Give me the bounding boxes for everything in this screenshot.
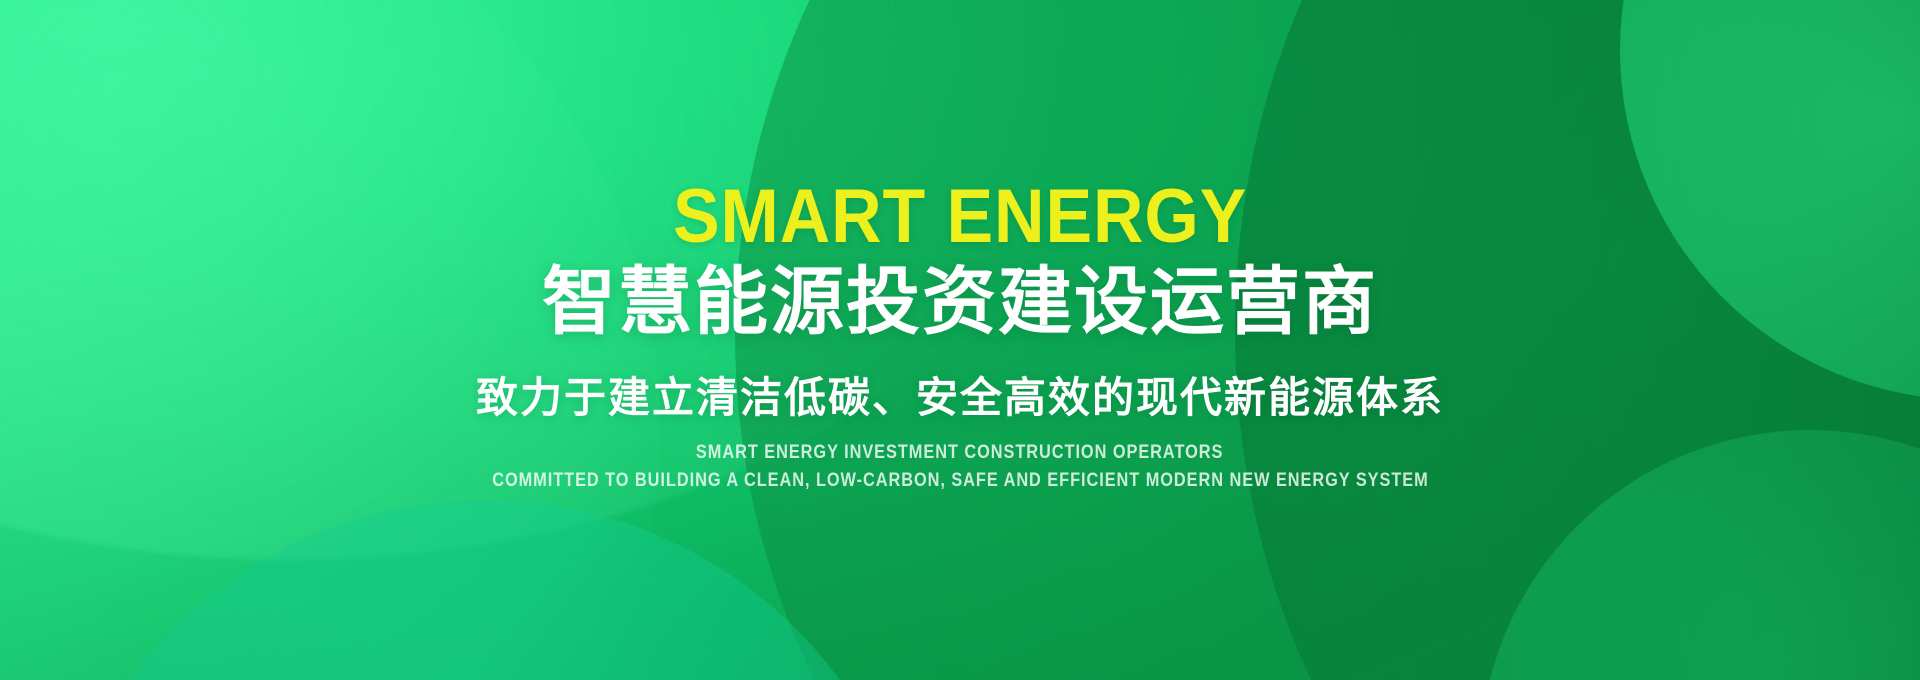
hero-banner: SMART ENERGY 智慧能源投资建设运营商 致力于建立清洁低碳、安全高效的… bbox=[0, 0, 1920, 680]
banner-content: SMART ENERGY 智慧能源投资建设运营商 致力于建立清洁低碳、安全高效的… bbox=[0, 0, 1920, 680]
banner-subheadline: 致力于建立清洁低碳、安全高效的现代新能源体系 bbox=[476, 374, 1444, 422]
english-caption-line-2: COMMITTED TO BUILDING A CLEAN, LOW-CARBO… bbox=[492, 470, 1428, 493]
banner-headline: 智慧能源投资建设运营商 bbox=[542, 262, 1378, 342]
english-caption-line-1: SMART ENERGY INVESTMENT CONSTRUCTION OPE… bbox=[696, 442, 1223, 465]
banner-english-caption: SMART ENERGY INVESTMENT CONSTRUCTION OPE… bbox=[416, 442, 1505, 493]
banner-eyebrow-smart-energy: SMART ENERGY bbox=[673, 181, 1247, 254]
